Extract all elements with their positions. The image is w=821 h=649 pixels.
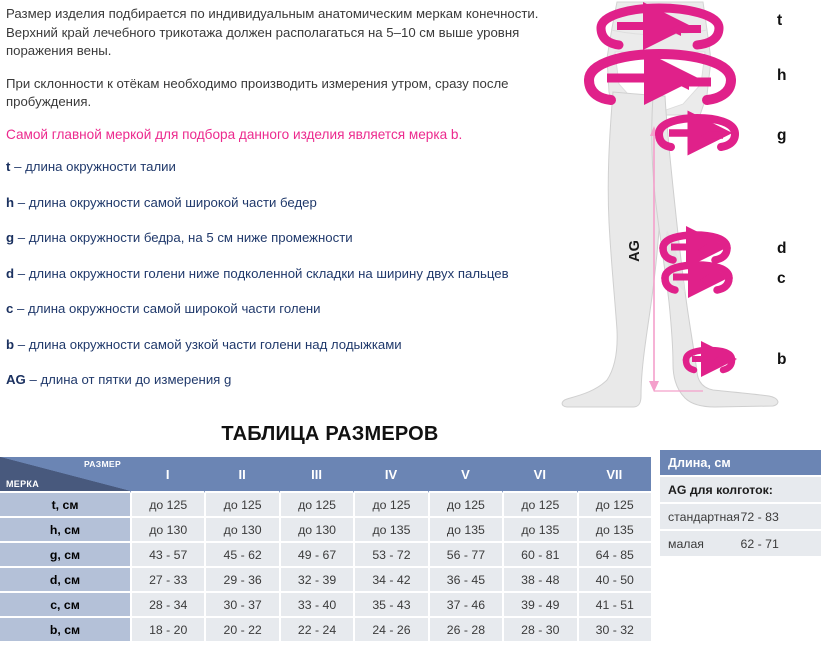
cell-g-1: 43 - 57 xyxy=(130,543,204,568)
size-table-header-row: РАЗМЕР МЕРКА I II III IV V VI VII xyxy=(0,457,651,493)
definition-text-h: – длина окружности самой широкой части б… xyxy=(18,195,317,210)
cell-t-6: до 125 xyxy=(502,493,576,518)
cell-h-2: до 130 xyxy=(204,518,278,543)
cell-g-7: 64 - 85 xyxy=(577,543,651,568)
cell-b-2: 20 - 22 xyxy=(204,618,278,643)
length-table-subtitle: AG для колготок: xyxy=(660,477,821,504)
measurement-ring-d xyxy=(663,235,727,260)
length-name-small: малая xyxy=(660,531,741,558)
cell-b-3: 22 - 24 xyxy=(279,618,353,643)
measurement-definitions-list: t – длина окружности талии h – длина окр… xyxy=(6,158,606,407)
diagram-label-c: c xyxy=(777,270,786,287)
list-item: стандартная 72 - 83 xyxy=(660,504,821,531)
cell-d-1: 27 - 33 xyxy=(130,568,204,593)
definition-item-ag: AG – длина от пятки до измерения g xyxy=(6,371,606,388)
column-header-4: IV xyxy=(353,457,427,493)
cell-b-1: 18 - 20 xyxy=(130,618,204,643)
cell-c-7: 41 - 51 xyxy=(577,593,651,618)
intro-text-block: Размер изделия подбирается по индивидуал… xyxy=(6,5,562,144)
definition-key-d: d xyxy=(6,266,14,281)
cell-t-2: до 125 xyxy=(204,493,278,518)
cell-h-6: до 135 xyxy=(502,518,576,543)
length-name-standard: стандартная xyxy=(660,504,741,531)
cell-b-6: 28 - 30 xyxy=(502,618,576,643)
cell-b-5: 26 - 28 xyxy=(428,618,502,643)
table-row: g, см 43 - 57 45 - 62 49 - 67 53 - 72 56… xyxy=(0,543,651,568)
cell-h-4: до 135 xyxy=(353,518,427,543)
cell-d-2: 29 - 36 xyxy=(204,568,278,593)
row-label-t: t, см xyxy=(0,493,130,518)
definition-text-b: – длина окружности самой узкой части гол… xyxy=(18,337,402,352)
diagram-label-b: b xyxy=(777,351,786,368)
cell-d-6: 38 - 48 xyxy=(502,568,576,593)
row-label-b: b, см xyxy=(0,618,130,643)
length-table: Длина, см AG для колготок: стандартная 7… xyxy=(660,450,821,558)
definition-text-g: – длина окружности бедра, на 5 см ниже п… xyxy=(18,230,353,245)
cell-h-7: до 135 xyxy=(577,518,651,543)
cell-d-4: 34 - 42 xyxy=(353,568,427,593)
diagram-label-t: t xyxy=(777,12,782,29)
row-label-h: h, см xyxy=(0,518,130,543)
cell-h-5: до 135 xyxy=(428,518,502,543)
table-row: h, см до 130 до 130 до 130 до 135 до 135… xyxy=(0,518,651,543)
definition-item-b: b – длина окружности самой узкой части г… xyxy=(6,336,606,353)
cell-c-5: 37 - 46 xyxy=(428,593,502,618)
definition-key-ag: AG xyxy=(6,372,26,387)
cell-d-3: 32 - 39 xyxy=(279,568,353,593)
ag-vertical-label: AG xyxy=(627,240,643,262)
length-value-standard: 72 - 83 xyxy=(741,504,821,531)
diagram-label-g: g xyxy=(777,127,786,144)
length-table-subtitle-row: AG для колготок: xyxy=(660,477,821,504)
row-label-c: c, см xyxy=(0,593,130,618)
table-row: c, см 28 - 34 30 - 37 33 - 40 35 - 43 37… xyxy=(0,593,651,618)
measurement-ring-c xyxy=(665,265,729,290)
cell-t-1: до 125 xyxy=(130,493,204,518)
size-table: РАЗМЕР МЕРКА I II III IV V VI VII t, см … xyxy=(0,457,651,643)
definition-text-ag: – длина от пятки до измерения g xyxy=(29,372,231,387)
definition-item-h: h – длина окружности самой широкой части… xyxy=(6,194,606,211)
table-row: t, см до 125 до 125 до 125 до 125 до 125… xyxy=(0,493,651,518)
definition-item-t: t – длина окружности талии xyxy=(6,158,606,175)
cell-c-2: 30 - 37 xyxy=(204,593,278,618)
cell-b-7: 30 - 32 xyxy=(577,618,651,643)
cell-h-1: до 130 xyxy=(130,518,204,543)
corner-measure-label: МЕРКА xyxy=(6,479,39,489)
highlight-note: Самой главной меркой для подбора данного… xyxy=(6,126,562,145)
cell-b-4: 24 - 26 xyxy=(353,618,427,643)
measurement-ring-b xyxy=(686,350,732,370)
cell-g-4: 53 - 72 xyxy=(353,543,427,568)
cell-c-6: 39 - 49 xyxy=(502,593,576,618)
cell-g-6: 60 - 81 xyxy=(502,543,576,568)
definition-item-d: d – длина окружности голени ниже подколе… xyxy=(6,265,606,282)
column-header-6: VI xyxy=(502,457,576,493)
cell-d-5: 36 - 45 xyxy=(428,568,502,593)
size-table-title: ТАБЛИЦА РАЗМЕРОВ xyxy=(0,423,660,446)
column-header-3: III xyxy=(279,457,353,493)
cell-t-7: до 125 xyxy=(577,493,651,518)
table-row: b, см 18 - 20 20 - 22 22 - 24 24 - 26 26… xyxy=(0,618,651,643)
length-table-header: Длина, см xyxy=(660,450,821,477)
measurement-ring-g xyxy=(659,118,735,147)
cell-t-5: до 125 xyxy=(428,493,502,518)
column-header-1: I xyxy=(130,457,204,493)
column-header-5: V xyxy=(428,457,502,493)
definition-key-g: g xyxy=(6,230,14,245)
intro-paragraph-1: Размер изделия подбирается по индивидуал… xyxy=(6,5,562,61)
intro-paragraph-2: При склонности к отёкам необходимо произ… xyxy=(6,75,562,112)
cell-g-2: 45 - 62 xyxy=(204,543,278,568)
diagram-label-h: h xyxy=(777,67,786,84)
column-header-7: VII xyxy=(577,457,651,493)
definition-text-d: – длина окружности голени ниже подколенн… xyxy=(18,266,509,281)
cell-t-4: до 125 xyxy=(353,493,427,518)
definition-key-b: b xyxy=(6,337,14,352)
definition-key-h: h xyxy=(6,195,14,210)
column-header-2: II xyxy=(204,457,278,493)
cell-d-7: 40 - 50 xyxy=(577,568,651,593)
list-item: малая 62 - 71 xyxy=(660,531,821,558)
row-label-g: g, см xyxy=(0,543,130,568)
cell-t-3: до 125 xyxy=(279,493,353,518)
cell-c-1: 28 - 34 xyxy=(130,593,204,618)
cell-h-3: до 130 xyxy=(279,518,353,543)
length-value-small: 62 - 71 xyxy=(741,531,821,558)
definition-text-t: – длина окружности талии xyxy=(14,159,176,174)
table-corner-cell: РАЗМЕР МЕРКА xyxy=(0,457,130,493)
anatomical-measurement-diagram: AG xyxy=(555,0,821,415)
table-row: d, см 27 - 33 29 - 36 32 - 39 34 - 42 36… xyxy=(0,568,651,593)
definition-text-c: – длина окружности самой широкой части г… xyxy=(17,301,321,316)
definition-item-g: g – длина окружности бедра, на 5 см ниже… xyxy=(6,229,606,246)
cell-g-3: 49 - 67 xyxy=(279,543,353,568)
cell-c-4: 35 - 43 xyxy=(353,593,427,618)
definition-item-c: c – длина окружности самой широкой части… xyxy=(6,300,606,317)
length-table-header-row: Длина, см xyxy=(660,450,821,477)
diagram-label-d: d xyxy=(777,240,786,257)
cell-g-5: 56 - 77 xyxy=(428,543,502,568)
row-label-d: d, см xyxy=(0,568,130,593)
cell-c-3: 33 - 40 xyxy=(279,593,353,618)
definition-key-t: t xyxy=(6,159,10,174)
corner-size-label: РАЗМЕР xyxy=(84,459,121,469)
definition-key-c: c xyxy=(6,301,13,316)
